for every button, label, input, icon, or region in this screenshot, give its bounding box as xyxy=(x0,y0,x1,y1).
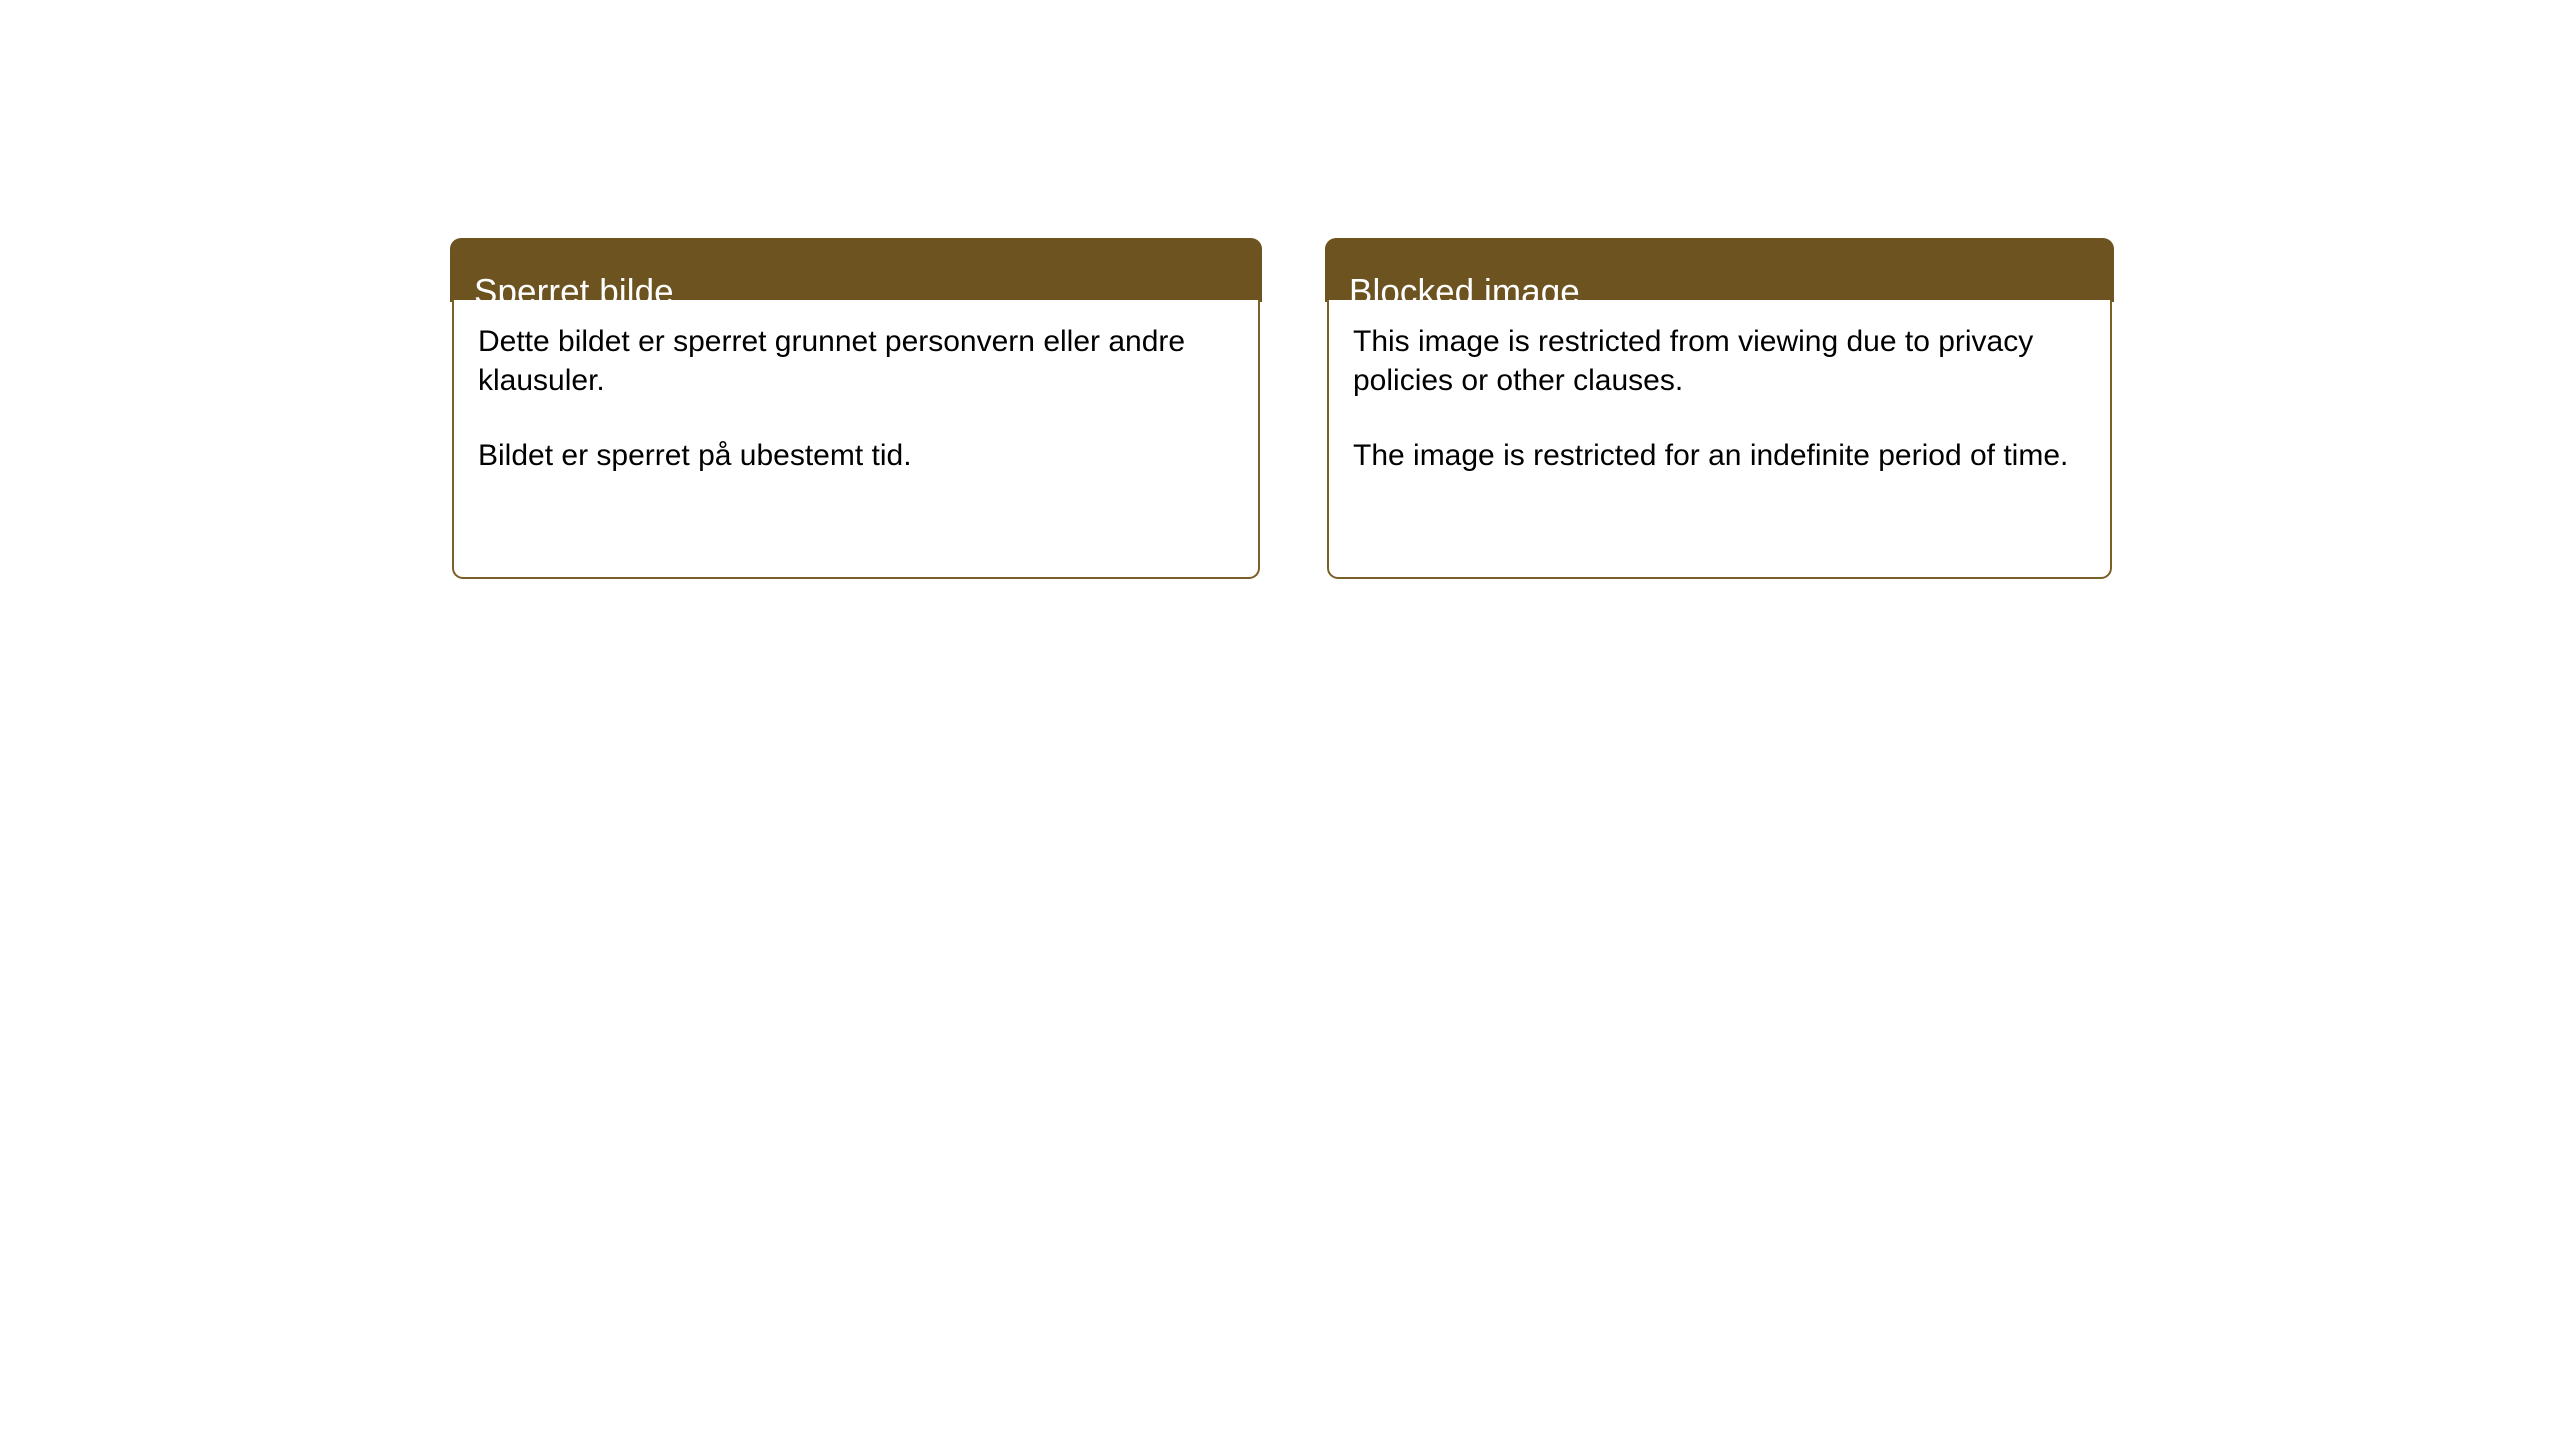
panel-paragraph-restriction-duration-english: The image is restricted for an indefinit… xyxy=(1353,436,2086,475)
panel-paragraph-restriction-reason: Dette bildet er sperret grunnet personve… xyxy=(478,322,1218,400)
panel-title-norwegian: Sperret bilde xyxy=(474,275,674,302)
blocked-image-panel-norwegian: Sperret bilde Dette bildet er sperret gr… xyxy=(450,238,1262,579)
blocked-image-notice-container: Sperret bilde Dette bildet er sperret gr… xyxy=(0,0,2560,1440)
panel-header-english: Blocked image xyxy=(1325,238,2114,302)
panel-paragraph-restriction-reason-english: This image is restricted from viewing du… xyxy=(1353,322,2086,400)
panel-body-english: This image is restricted from viewing du… xyxy=(1327,300,2112,579)
panel-title-english: Blocked image xyxy=(1349,275,1580,302)
blocked-image-panel-english: Blocked image This image is restricted f… xyxy=(1325,238,2114,579)
panel-paragraph-restriction-duration: Bildet er sperret på ubestemt tid. xyxy=(478,436,1218,475)
panel-header-norwegian: Sperret bilde xyxy=(450,238,1262,302)
panel-body-norwegian: Dette bildet er sperret grunnet personve… xyxy=(452,300,1260,579)
